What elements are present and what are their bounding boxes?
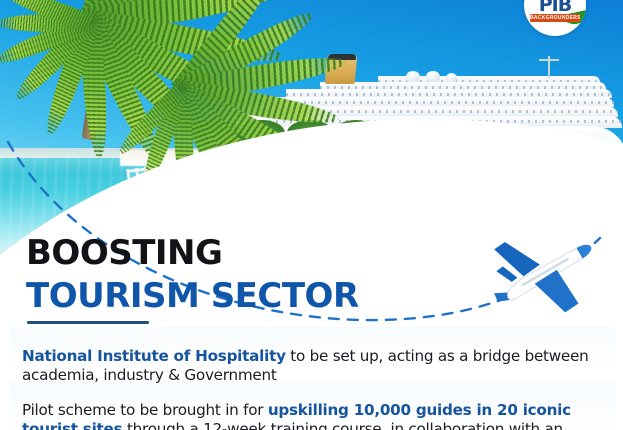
- ship-radome: [406, 71, 420, 82]
- tourism-poster: PIB BACKGROUNDERS BOOSTING TOURISM SECTO…: [0, 0, 623, 430]
- poster-content: BOOSTING TOURISM SECTOR National Institu…: [0, 228, 623, 430]
- page-title-line2: TOURISM SECTOR: [26, 279, 359, 313]
- ship-radome: [446, 73, 457, 82]
- logo-wordmark: PIB: [524, 0, 586, 15]
- ship-radome: [426, 71, 440, 82]
- body-paragraph: Pilot scheme to be brought in for upskil…: [22, 401, 610, 430]
- page-title-line1: BOOSTING: [26, 236, 222, 270]
- ship-mast: [548, 56, 550, 78]
- title-underline-rule: [27, 321, 149, 324]
- body-paragraph: National Institute of Hospitality to be …: [22, 347, 610, 385]
- logo-subtitle: BACKGROUNDERS: [530, 14, 580, 22]
